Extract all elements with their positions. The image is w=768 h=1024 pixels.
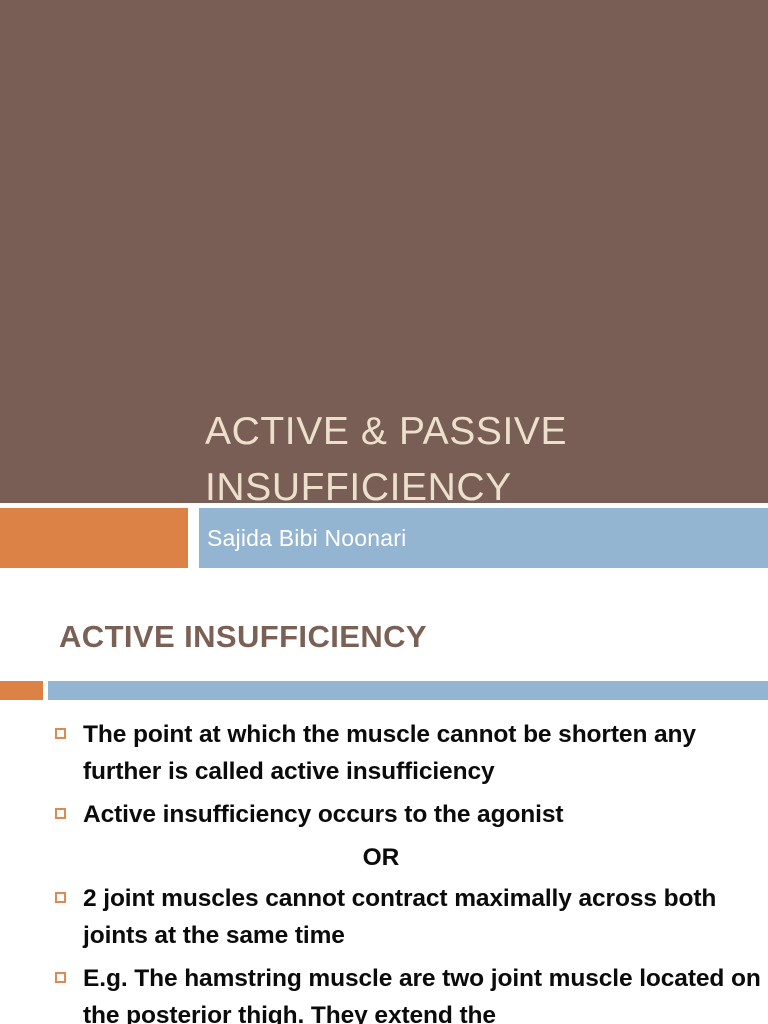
square-bullet-icon: [55, 728, 66, 739]
title-accent-block-orange: [0, 508, 188, 568]
list-item-text: The point at which the muscle cannot be …: [83, 716, 768, 790]
presenter-name: Sajida Bibi Noonari: [207, 523, 406, 553]
list-item: The point at which the muscle cannot be …: [55, 716, 768, 790]
square-bullet-icon: [55, 808, 66, 819]
separator-or: OR: [55, 839, 679, 876]
bullet-list: The point at which the muscle cannot be …: [55, 716, 768, 1024]
list-item-text: Active insufficiency occurs to the agoni…: [83, 796, 768, 833]
square-bullet-icon: [55, 972, 66, 983]
slide-title: ACTIVE & PASSIVE INSUFFICIENCY Sajida Bi…: [0, 0, 768, 568]
slide-heading: ACTIVE INSUFFICIENCY: [59, 618, 427, 656]
list-item: 2 joint muscles cannot contract maximall…: [55, 880, 768, 954]
list-item: E.g. The hamstring muscle are two joint …: [55, 960, 768, 1024]
square-bullet-icon: [55, 892, 66, 903]
heading-rule-orange: [0, 681, 43, 700]
list-item: Active insufficiency occurs to the agoni…: [55, 796, 768, 833]
slide-active-insufficiency: ACTIVE INSUFFICIENCY The point at which …: [0, 568, 768, 1024]
list-item-text: E.g. The hamstring muscle are two joint …: [83, 960, 768, 1024]
heading-rule-blue: [48, 681, 768, 700]
presentation-page: ACTIVE & PASSIVE INSUFFICIENCY Sajida Bi…: [0, 0, 768, 1024]
presentation-title: ACTIVE & PASSIVE INSUFFICIENCY: [205, 404, 725, 516]
list-item-text: 2 joint muscles cannot contract maximall…: [83, 880, 768, 954]
